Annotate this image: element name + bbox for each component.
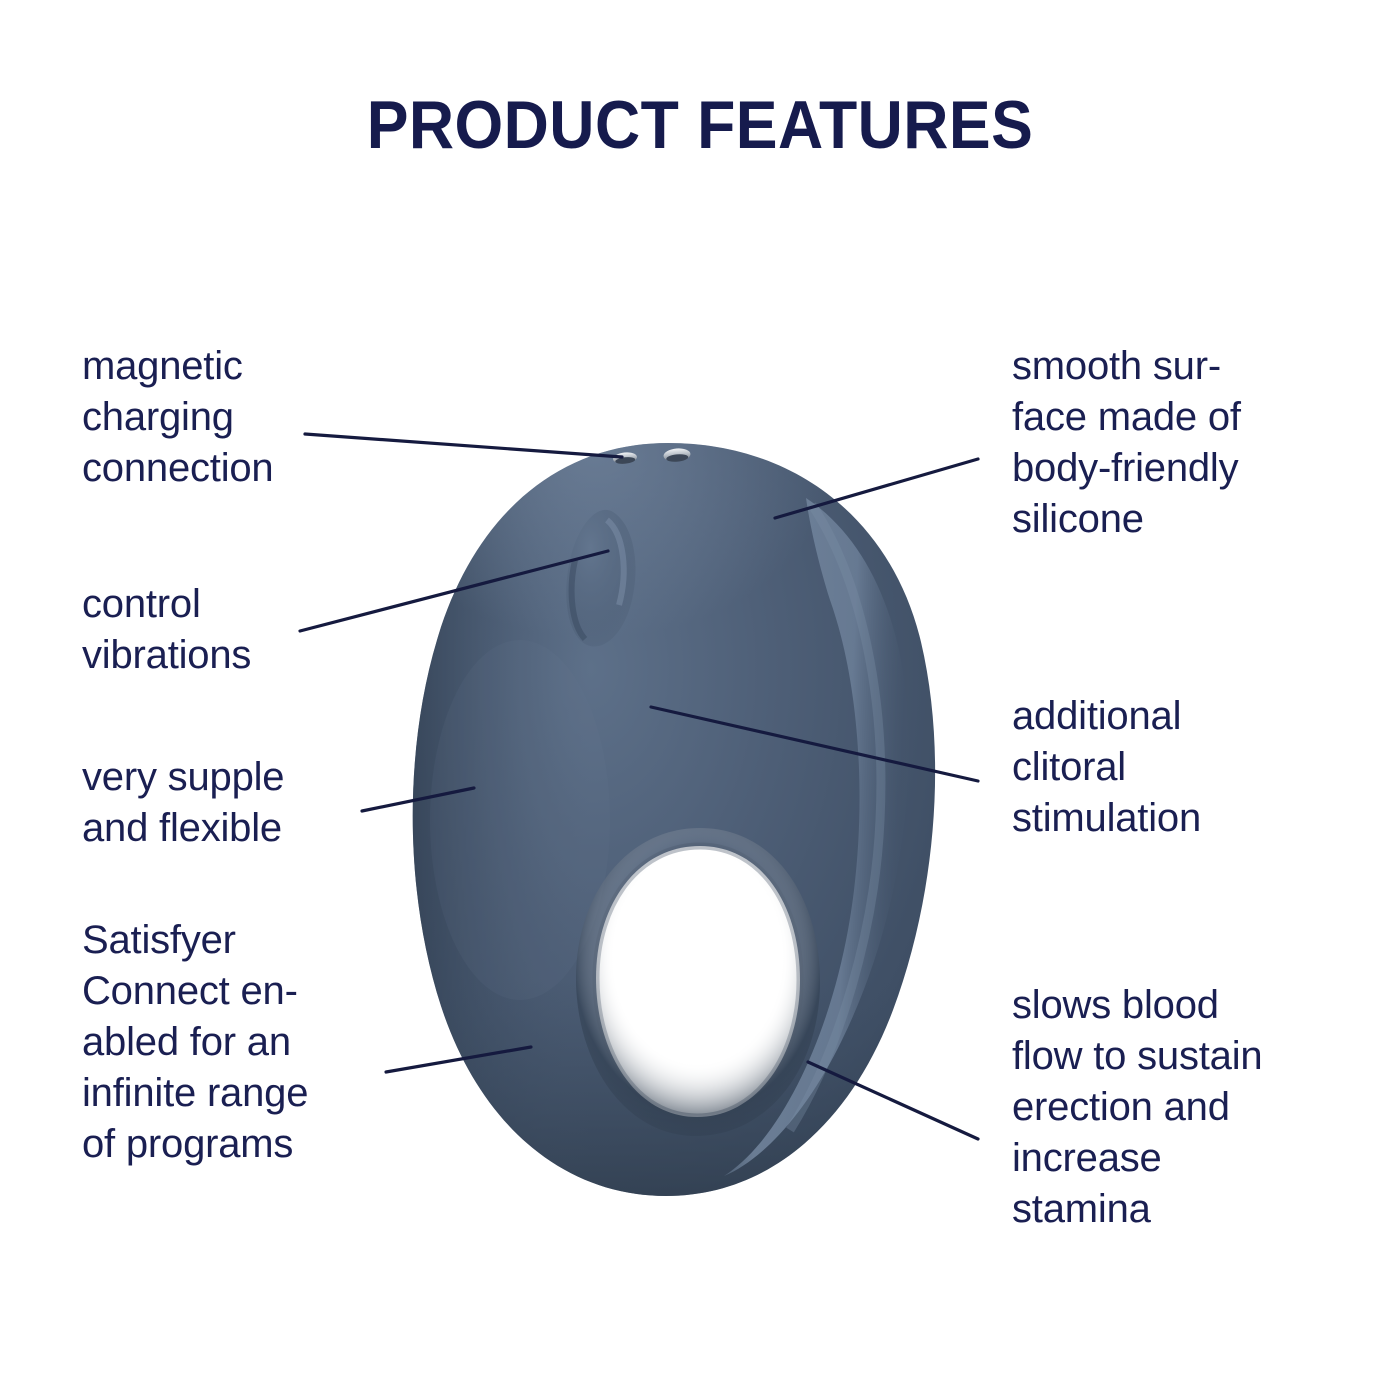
feature-label-slows-blood-flow: slows blood flow to sustain erection and… xyxy=(1012,980,1352,1235)
ring-opening xyxy=(576,828,820,1136)
feature-label-satisfyer-connect: Satisfyer Connect en- abled for an infin… xyxy=(82,915,412,1170)
feature-label-clitoral-stim: additional clitoral stimulation xyxy=(1012,691,1352,844)
feature-label-magnetic-charging: magnetic charging connection xyxy=(82,341,412,494)
product-features-infographic: PRODUCT FEATURES xyxy=(0,0,1400,1395)
feature-label-smooth-surface: smooth sur- face made of body-friendly s… xyxy=(1012,341,1352,545)
feature-label-control-vibrations: control vibrations xyxy=(82,579,412,681)
feature-label-very-supple: very supple and flexible xyxy=(82,752,422,854)
